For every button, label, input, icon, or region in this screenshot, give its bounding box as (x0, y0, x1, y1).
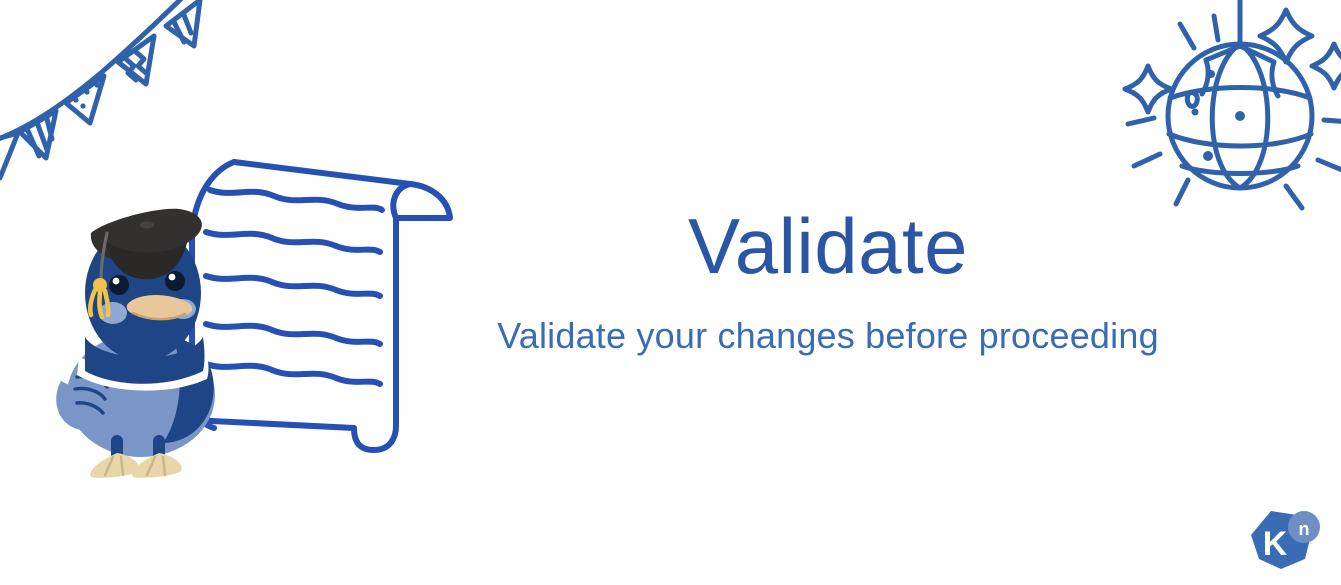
page-title: Validate (455, 205, 1201, 288)
logo-letter-k: K (1263, 525, 1288, 563)
hero-text-block: Validate Validate your changes before pr… (455, 205, 1201, 357)
kn-logo: K n (1245, 505, 1323, 577)
slide-canvas: Validate Validate your changes before pr… (0, 0, 1341, 585)
disco-ball-icon (1118, 0, 1341, 234)
page-subtitle: Validate your changes before proceeding (455, 314, 1201, 357)
logo-letter-n: n (1299, 519, 1310, 539)
diploma-scroll-icon (178, 128, 478, 458)
party-bunting-icon (0, 0, 244, 182)
graduate-bird-mascot (55, 185, 240, 480)
